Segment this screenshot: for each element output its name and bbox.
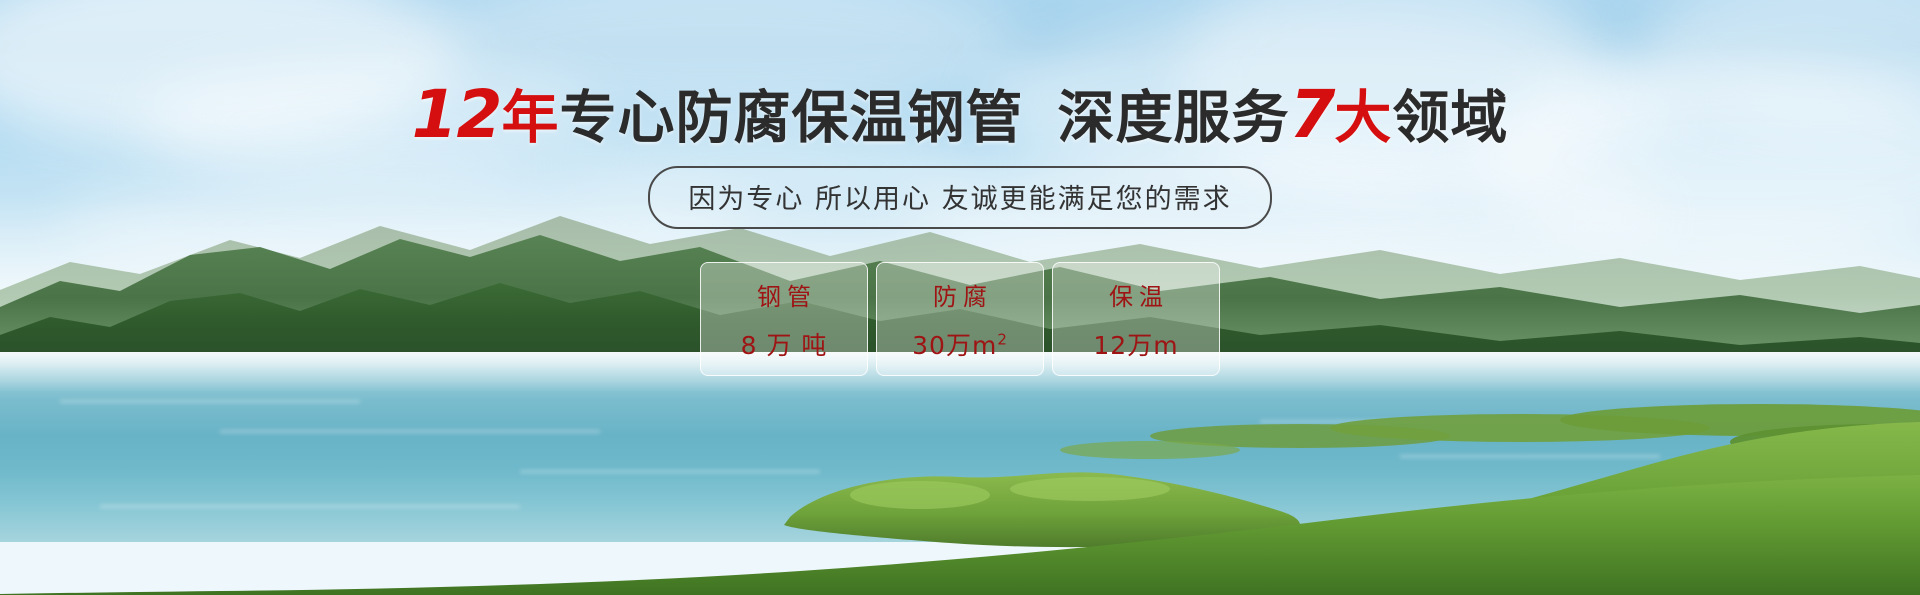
stat-card-value: 8 万 吨	[741, 326, 828, 362]
stat-card-title: 防腐	[927, 277, 993, 312]
grass-foreground-icon	[0, 475, 1920, 595]
stat-card-title: 钢管	[751, 277, 817, 312]
stat-card-value-main: 30万m	[912, 331, 997, 360]
stat-card-value: 30万m2	[912, 326, 1008, 362]
subtitle-container: 因为专心 所以用心 友诚更能满足您的需求	[0, 166, 1920, 229]
water-streak	[220, 430, 600, 433]
headline-fields-number: 7	[1289, 76, 1334, 153]
promo-banner: 12年专心防腐保温钢管深度服务7大领域 因为专心 所以用心 友诚更能满足您的需求…	[0, 0, 1920, 595]
stat-card-value: 12万m	[1093, 326, 1178, 362]
subtitle-pill: 因为专心 所以用心 友诚更能满足您的需求	[648, 166, 1271, 229]
water-streak	[60, 400, 360, 403]
stat-cards: 钢管 8 万 吨 防腐 30万m2 保温 12万m	[0, 262, 1920, 376]
stat-card-value-superscript: 2	[997, 330, 1008, 348]
headline-service-text: 深度服务	[1057, 85, 1289, 151]
headline-years-number: 12	[412, 76, 502, 153]
headline-years-unit: 年	[501, 85, 559, 151]
banner-headline: 12年专心防腐保温钢管深度服务7大领域	[0, 82, 1920, 148]
stat-card-anticorrosion[interactable]: 防腐 30万m2	[876, 262, 1044, 376]
headline-main-text: 专心防腐保温钢管	[559, 85, 1023, 151]
headline-fields-unit: 大	[1334, 85, 1392, 151]
stat-card-title: 保温	[1103, 277, 1169, 312]
stat-card-value-main: 12万m	[1093, 331, 1178, 360]
headline-fields-tail: 领域	[1392, 85, 1508, 151]
stat-card-steel-pipe[interactable]: 钢管 8 万 吨	[700, 262, 868, 376]
stat-card-value-main: 8 万 吨	[741, 331, 828, 360]
stat-card-insulation[interactable]: 保温 12万m	[1052, 262, 1220, 376]
